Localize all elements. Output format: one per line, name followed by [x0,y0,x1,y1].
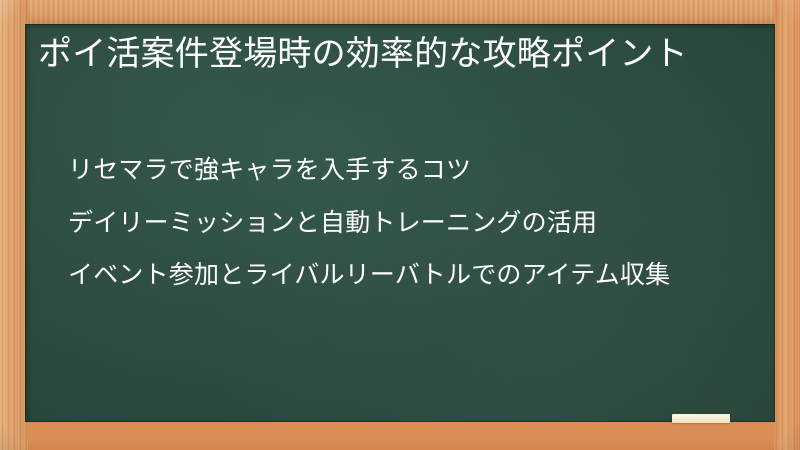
wooden-frame-top-rail [0,0,800,24]
board-title: ポイ活案件登場時の効率的な攻略ポイント [38,32,754,77]
chalk-stick-icon [672,414,730,423]
chalkboard-surface: ポイ活案件登場時の効率的な攻略ポイント リセマラで強キャラを入手するコツ デイリ… [25,24,775,422]
board-topic-list: リセマラで強キャラを入手するコツ デイリーミッションと自動トレーニングの活用 イ… [38,152,754,310]
wooden-frame-right-rail [774,0,800,450]
wooden-frame-bottom-rail [0,422,800,450]
list-item: イベント参加とライバルリーバトルでのアイテム収集 [38,257,754,293]
list-item: リセマラで強キャラを入手するコツ [38,152,754,188]
list-item: デイリーミッションと自動トレーニングの活用 [38,205,754,241]
blackboard-scene: ポイ活案件登場時の効率的な攻略ポイント リセマラで強キャラを入手するコツ デイリ… [0,0,800,450]
wooden-frame-left-rail [0,0,28,450]
